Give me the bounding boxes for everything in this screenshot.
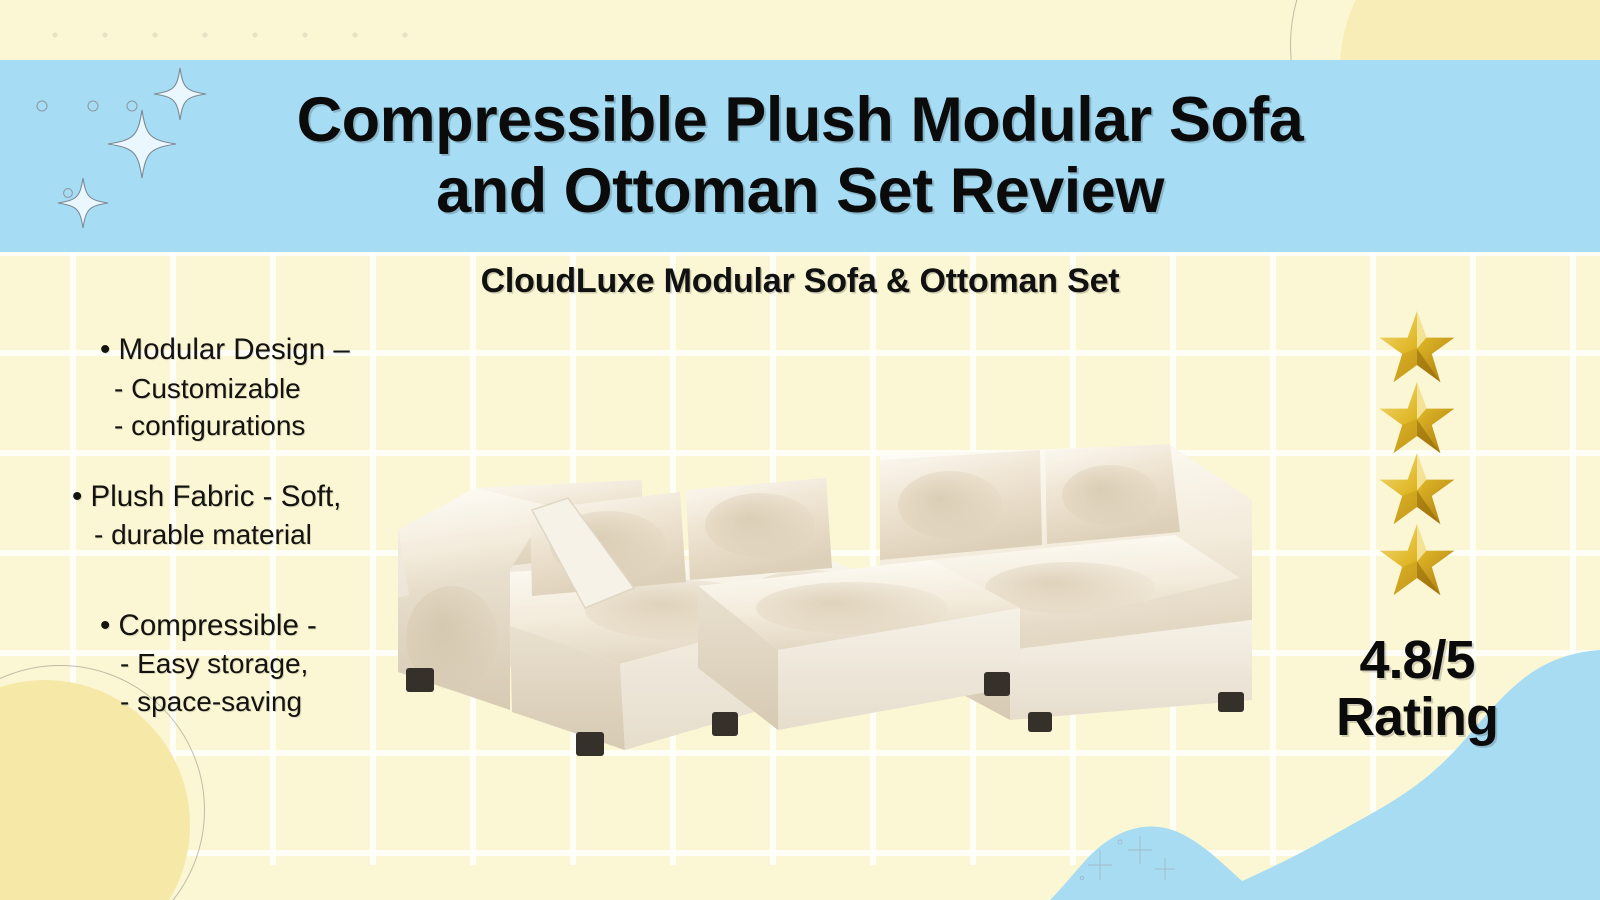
feature-line: - Customizable — [62, 370, 412, 408]
feature-line: - space-saving — [62, 683, 412, 721]
title-band: Compressible Plush Modular Sofa and Otto… — [0, 60, 1600, 252]
rating-score: 4.8/5 — [1359, 630, 1474, 690]
title-line-1: Compressible Plush Modular Sofa — [297, 85, 1304, 155]
feature-item: • Modular Design – - Customizable - conf… — [62, 330, 412, 445]
star-icon — [1378, 450, 1456, 528]
feature-line: - durable material — [62, 516, 412, 554]
feature-line: - Easy storage, — [62, 645, 412, 683]
page-title: Compressible Plush Modular Sofa and Otto… — [177, 85, 1424, 226]
star-icon — [1378, 308, 1456, 386]
infographic-canvas: Compressible Plush Modular Sofa and Otto… — [0, 0, 1600, 900]
feature-list: • Modular Design – - Customizable - conf… — [62, 330, 412, 752]
feature-line: • Plush Fabric - Soft, — [62, 477, 412, 517]
title-line-2: and Ottoman Set Review — [436, 156, 1164, 226]
product-image — [380, 320, 1280, 850]
rating-block: 4.8/5 Rating — [1322, 308, 1512, 745]
feature-item: • Plush Fabric - Soft, - durable materia… — [62, 477, 412, 554]
feature-line: - configurations — [62, 407, 412, 445]
feature-item: • Compressible - - Easy storage, - space… — [62, 606, 412, 721]
product-name: CloudLuxe Modular Sofa & Ottoman Set — [0, 262, 1600, 301]
star-icon — [1378, 379, 1456, 457]
rating-value-block: 4.8/5 Rating — [1336, 632, 1498, 745]
feature-line: • Compressible - — [62, 606, 412, 646]
star-icon — [1378, 521, 1456, 599]
rating-label: Rating — [1336, 689, 1498, 746]
feature-line: • Modular Design – — [62, 330, 412, 370]
